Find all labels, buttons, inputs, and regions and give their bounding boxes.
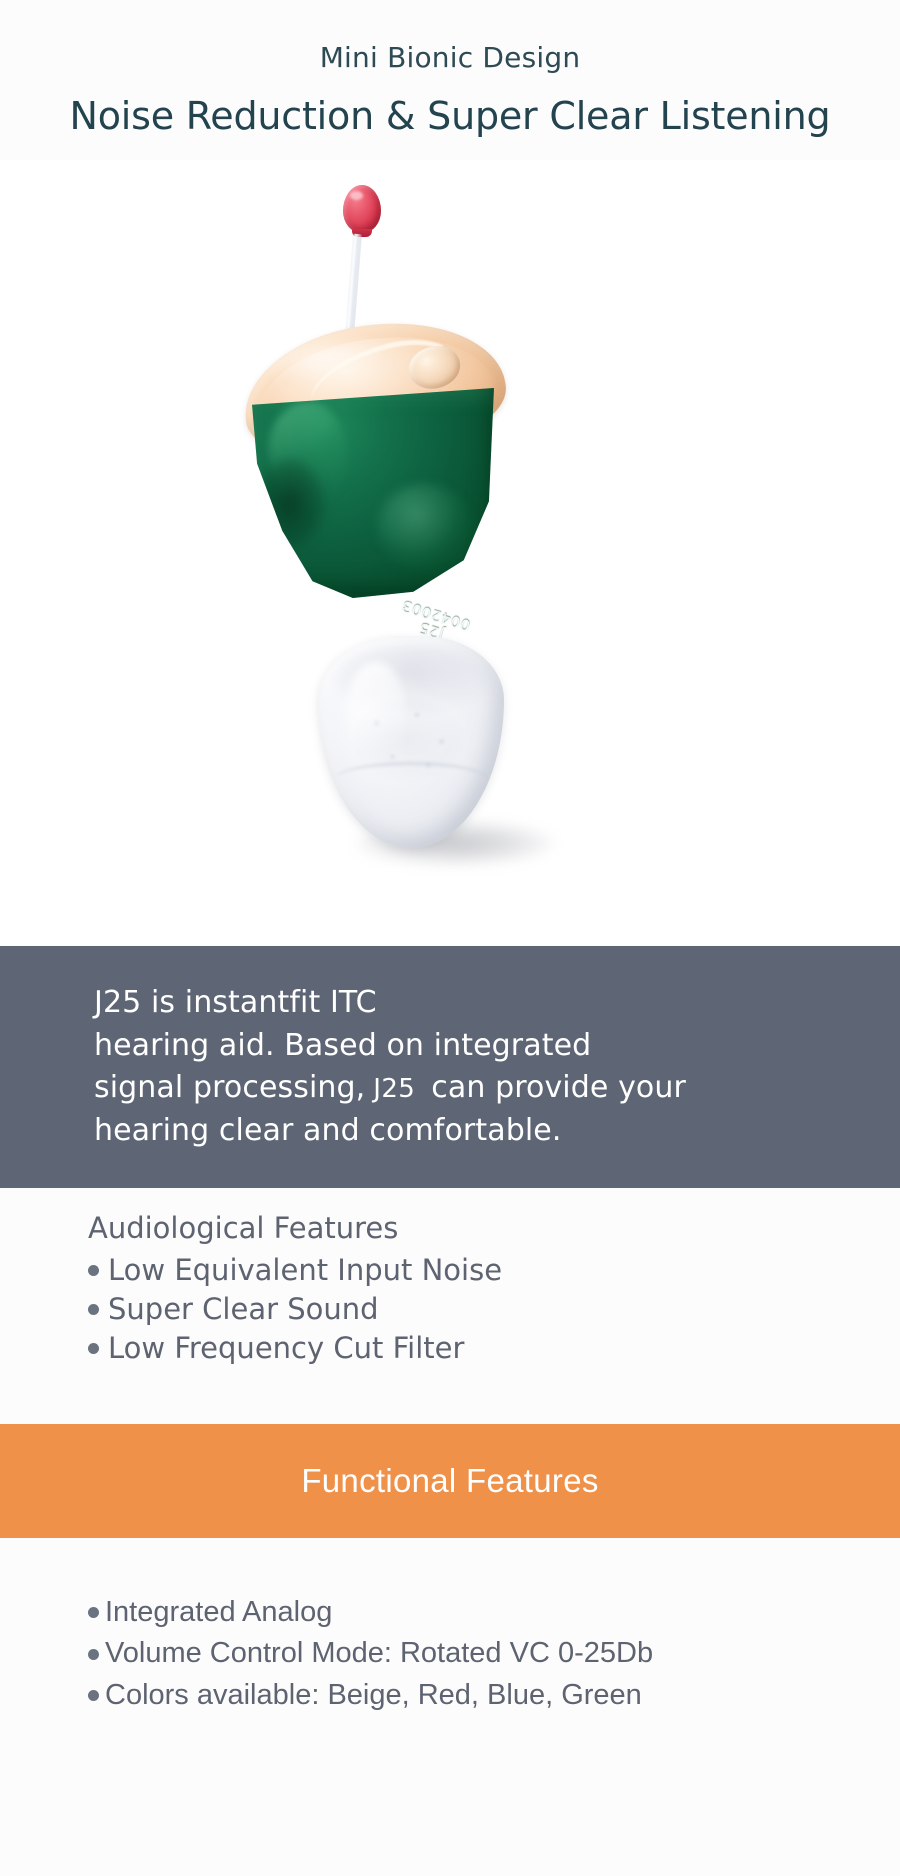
bullet-icon (88, 1304, 99, 1315)
pull-handle-knob-icon (343, 185, 381, 233)
shell-shadow (255, 458, 325, 548)
description-line-3: signal processing,J25can provide your (94, 1067, 848, 1110)
functional-features-banner-label: Functional Features (301, 1462, 598, 1500)
list-item: Integrated Analog (88, 1592, 900, 1633)
list-item-label: Colors available: Beige, Red, Blue, Gree… (105, 1678, 642, 1713)
list-item: Super Clear Sound (88, 1288, 900, 1327)
description-line-3-prefix: signal processing, (94, 1070, 365, 1105)
bullet-icon (88, 1649, 99, 1660)
functional-features-list: Integrated Analog Volume Control Mode: R… (88, 1592, 900, 1716)
description-inline-model: J25 (365, 1074, 431, 1104)
product-description-band: J25 is instantfit ITC hearing aid. Based… (0, 946, 900, 1188)
dome-highlight (346, 662, 406, 762)
list-item-label: Volume Control Mode: Rotated VC 0-25Db (105, 1636, 653, 1671)
bullet-icon (88, 1690, 99, 1701)
list-item: Low Equivalent Input Noise (88, 1249, 900, 1288)
itc-hearing-aid-image: J25 0042003 (0, 160, 900, 945)
audiological-features-list: Low Equivalent Input Noise Super Clear S… (88, 1249, 900, 1365)
pull-handle-wire (345, 234, 362, 339)
dome-seam (336, 762, 486, 795)
functional-features-banner: Functional Features (0, 1424, 900, 1538)
functional-features-section: Integrated Analog Volume Control Mode: R… (0, 1592, 900, 1716)
list-item: Volume Control Mode: Rotated VC 0-25Db (88, 1633, 900, 1674)
list-item-label: Low Frequency Cut Filter (108, 1331, 464, 1366)
list-item: Colors available: Beige, Red, Blue, Gree… (88, 1675, 900, 1716)
product-image-stage: J25 0042003 (0, 160, 900, 945)
description-line-2: hearing aid. Based on integrated (94, 1025, 848, 1068)
bullet-icon (88, 1607, 99, 1618)
description-line-1: J25 is instantfit ITC (94, 982, 848, 1025)
list-item-label: Low Equivalent Input Noise (108, 1253, 502, 1288)
list-item: Low Frequency Cut Filter (88, 1327, 900, 1366)
shell-highlight-right (377, 484, 473, 570)
description-line-4: hearing clear and comfortable. (94, 1110, 848, 1153)
bullet-icon (88, 1343, 99, 1354)
audiological-features-heading: Audiological Features (88, 1210, 900, 1247)
page-header: Mini Bionic Design Noise Reduction & Sup… (0, 0, 900, 141)
description-line-3-suffix: can provide your (431, 1070, 686, 1105)
page-subtitle: Mini Bionic Design (0, 40, 900, 75)
list-item-label: Integrated Analog (105, 1595, 332, 1630)
page-title: Noise Reduction & Super Clear Listening (0, 93, 900, 141)
product-description-text: J25 is instantfit ITC hearing aid. Based… (94, 982, 848, 1152)
audiological-features-section: Audiological Features Low Equivalent Inp… (0, 1188, 900, 1366)
hearing-aid-ear-dome (318, 636, 504, 848)
list-item-label: Super Clear Sound (108, 1292, 379, 1327)
hearing-aid-green-shell (247, 388, 499, 598)
bullet-icon (88, 1265, 99, 1276)
